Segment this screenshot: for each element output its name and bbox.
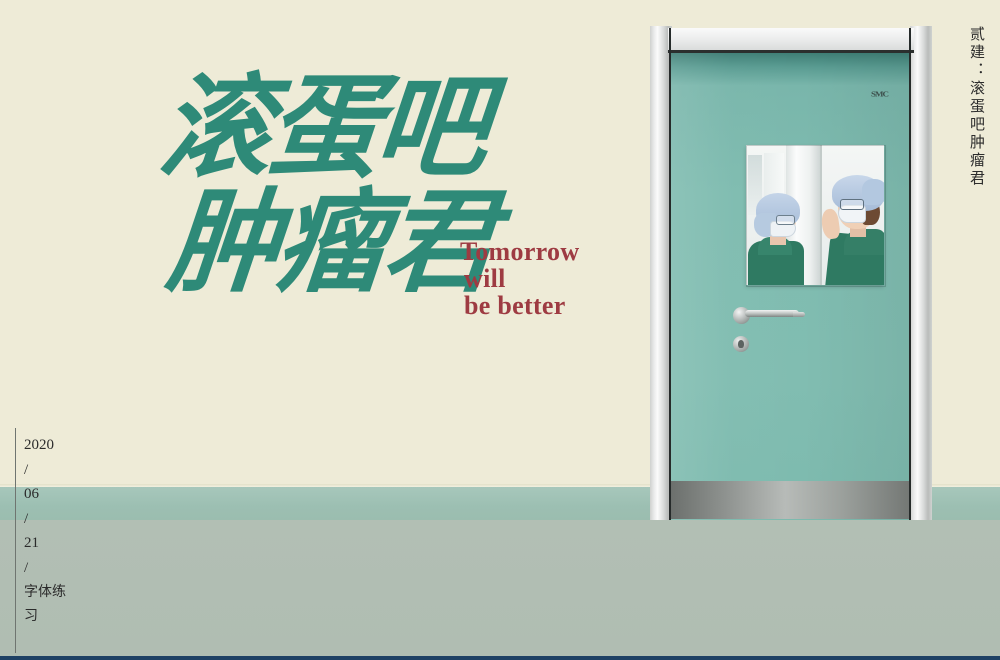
tagline-line-2: will xyxy=(464,265,579,292)
person-right-cap-fold xyxy=(862,179,884,205)
person-left-glasses xyxy=(776,215,795,225)
date-separator-3: / xyxy=(24,556,70,581)
floor xyxy=(0,520,1000,656)
door-panel-shine xyxy=(671,53,909,520)
headline-line-1: 滚蛋吧 xyxy=(155,70,515,185)
headline-calligraphy: 滚蛋吧 肿瘤君 xyxy=(160,70,510,350)
date-block: 2020 / 06 / 21 / 字体练习 xyxy=(24,433,70,628)
door-lock-keyhole xyxy=(738,340,744,348)
door-handle-tip xyxy=(793,312,805,317)
poster-canvas: SMC xyxy=(0,0,1000,660)
door-frame-right xyxy=(910,26,932,520)
door-logo-text: SMC xyxy=(871,90,905,98)
door-panel[interactable]: SMC xyxy=(671,53,909,520)
date-separator-1: / xyxy=(24,458,70,483)
door-gap-right xyxy=(909,28,911,520)
date-month: 06 xyxy=(24,482,70,507)
door-frame-header xyxy=(668,28,914,52)
tagline-line-3: be better xyxy=(464,292,579,319)
date-day: 21 xyxy=(24,531,70,556)
door-window xyxy=(746,145,884,285)
door-kick-plate xyxy=(671,481,909,519)
person-right-glasses xyxy=(840,199,864,210)
credit-vertical-text: 贰建：滚蛋吧肿瘤君 xyxy=(968,26,986,206)
door-gap-left xyxy=(669,28,671,520)
date-separator-2: / xyxy=(24,507,70,532)
date-note: 字体练习 xyxy=(24,580,70,628)
tagline-line-1: Tomorrow xyxy=(460,238,579,265)
tagline: Tomorrow will be better xyxy=(460,238,579,319)
date-divider-rule xyxy=(15,428,16,653)
date-year: 2020 xyxy=(24,433,70,458)
hospital-door: SMC xyxy=(650,26,932,520)
bottom-accent-bar xyxy=(0,656,1000,660)
door-handle-lever[interactable] xyxy=(745,310,799,317)
